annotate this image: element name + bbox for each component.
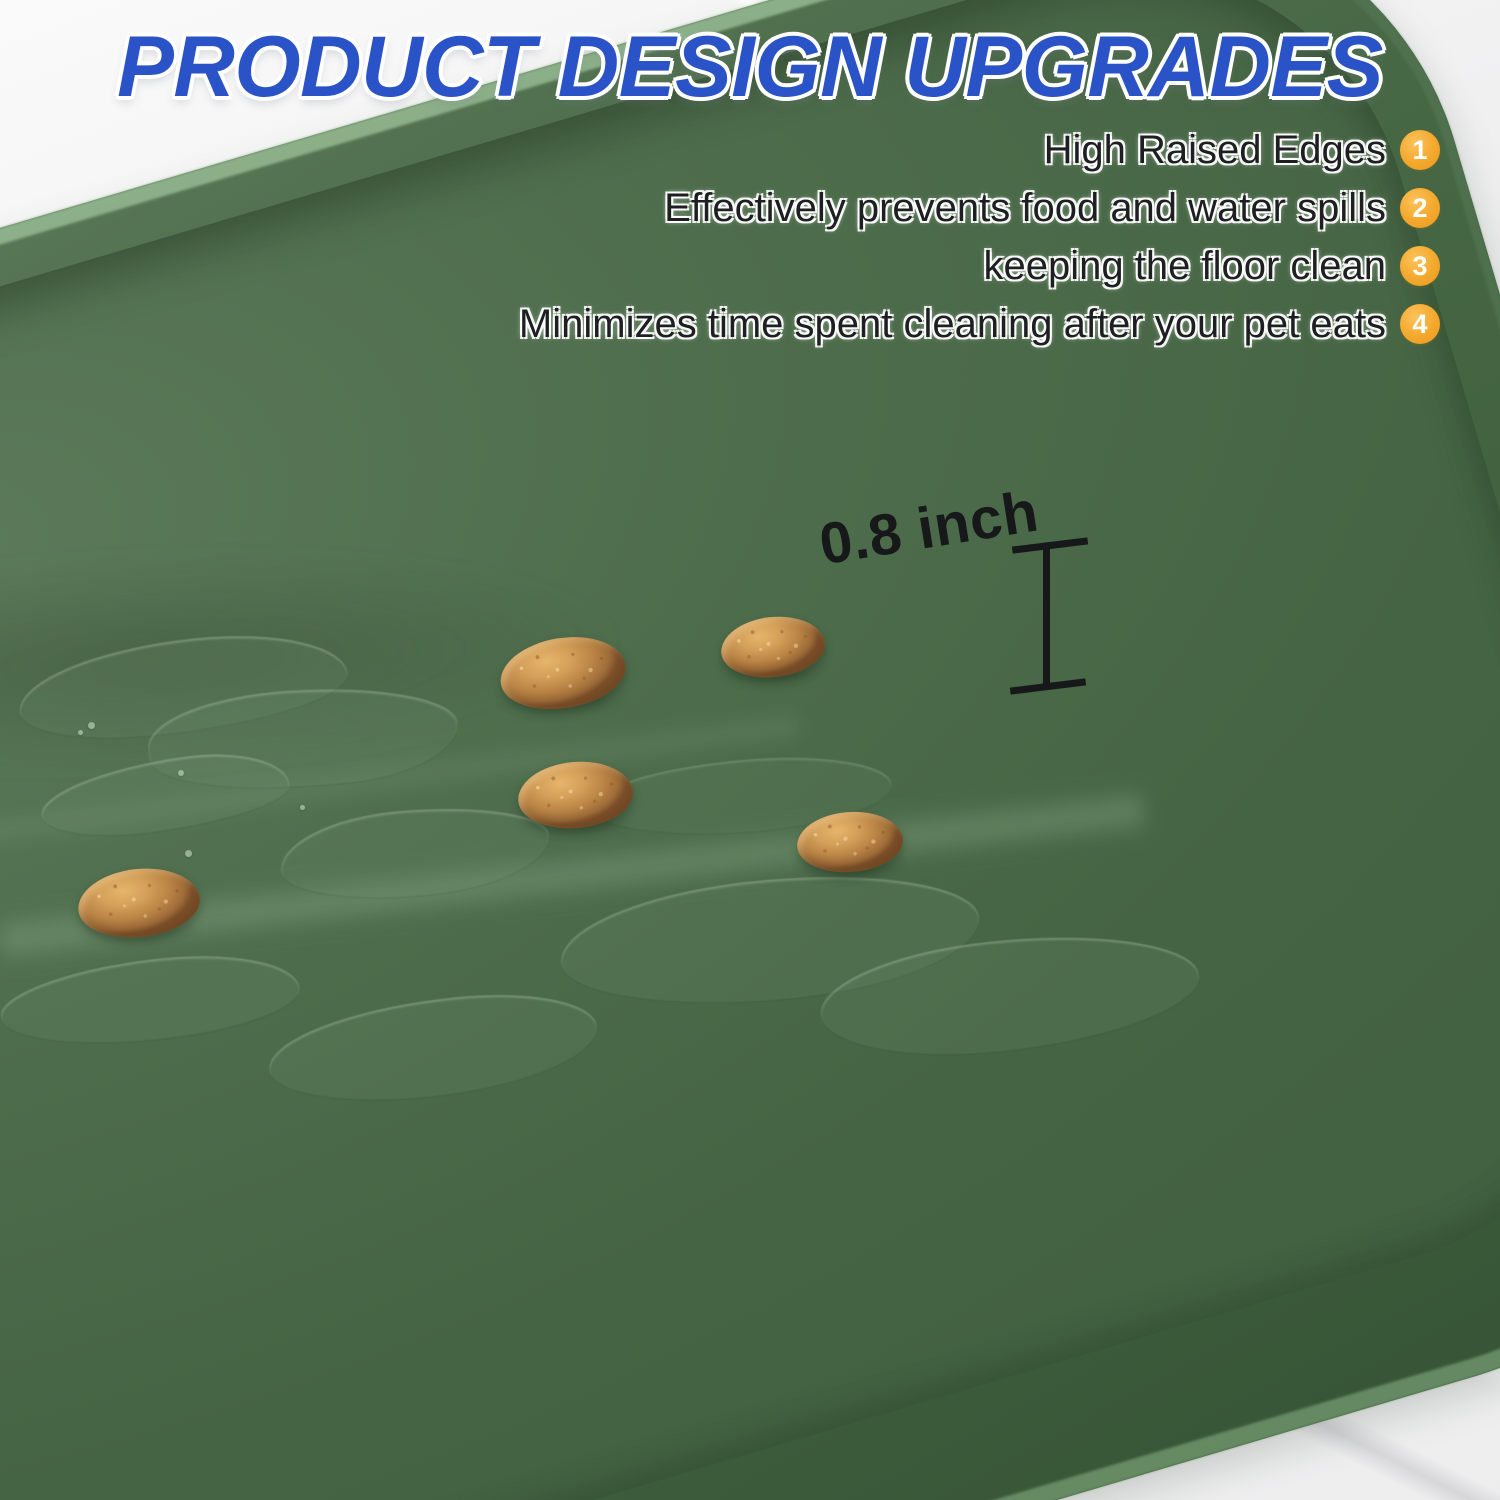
basin-crease: [0, 708, 800, 859]
feature-number-badge: 2: [1400, 188, 1440, 228]
feature-item: High Raised Edges 1: [340, 126, 1440, 174]
feature-label: keeping the floor clean: [984, 244, 1387, 289]
page-title: PRODUCT DESIGN UPGRADES: [8, 18, 1493, 117]
feature-label: High Raised Edges: [1044, 128, 1386, 173]
feature-number-badge: 1: [1400, 130, 1440, 170]
feature-list: High Raised Edges 1 Effectively prevents…: [340, 126, 1440, 348]
feature-number-badge: 3: [1400, 246, 1440, 286]
feature-item: keeping the floor clean 3: [340, 242, 1440, 290]
feature-label: Effectively prevents food and water spil…: [664, 186, 1386, 231]
basin-crease: [0, 783, 1146, 967]
product-infographic: 0.8 inch PRODUCT DESIGN UPGRADES High Ra…: [0, 0, 1500, 1500]
feature-number-badge: 4: [1400, 304, 1440, 344]
feature-item: Minimizes time spent cleaning after your…: [340, 300, 1440, 348]
feature-label: Minimizes time spent cleaning after your…: [519, 302, 1386, 347]
feature-item: Effectively prevents food and water spil…: [340, 184, 1440, 232]
basin-shadow: [0, 541, 642, 784]
dimension-line: [1043, 546, 1050, 688]
